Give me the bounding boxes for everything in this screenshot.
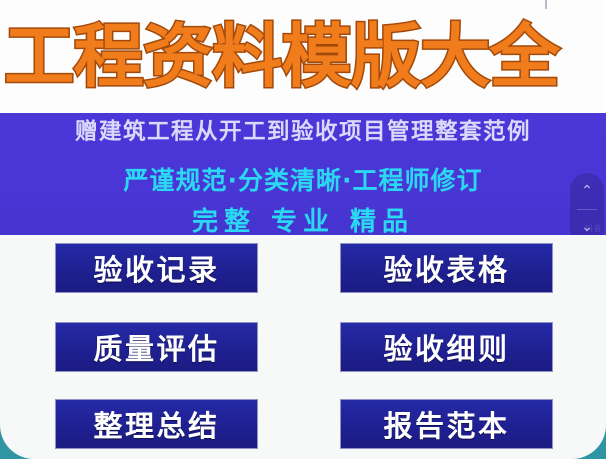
hero-banner: 工程资料模版大全 <box>0 0 606 116</box>
vertical-pager[interactable]: ⌃ ⌄ <box>570 173 604 235</box>
category-button-label: 报告范本 <box>383 403 509 445</box>
category-card: 验收记录 验收表格 质量评估 验收细则 整理总结 报告范本 <box>0 235 606 459</box>
promo-poster: 工程资料模版大全 赠建筑工程从开工到验收项目管理整套范例 严谨规范·分类清晰·工… <box>0 0 606 459</box>
category-button-acceptance-records[interactable]: 验收记录 <box>55 243 258 293</box>
band-subtitle-primary: 赠建筑工程从开工到验收项目管理整套范例 <box>0 117 606 147</box>
band-subtitle-features: 严谨规范·分类清晰·工程师修订 <box>0 165 606 197</box>
category-button-label: 验收细则 <box>383 326 509 368</box>
category-button-label: 质量评估 <box>93 326 219 368</box>
chevron-down-icon[interactable]: ⌄ <box>570 209 604 235</box>
subtitle-band: 赠建筑工程从开工到验收项目管理整套范例 严谨规范·分类清晰·工程师修订 完整 专… <box>0 113 606 235</box>
band-subtitle-tagline: 完整 专业 精品 <box>0 205 606 235</box>
category-button-grid: 验收记录 验收表格 质量评估 验收细则 整理总结 报告范本 <box>0 235 606 459</box>
page-title: 工程资料模版大全 <box>4 8 606 106</box>
category-button-report-template[interactable]: 报告范本 <box>340 399 553 449</box>
category-button-label: 验收记录 <box>93 247 219 289</box>
category-button-label: 整理总结 <box>93 403 219 445</box>
category-button-summary[interactable]: 整理总结 <box>55 399 258 449</box>
category-button-acceptance-rules[interactable]: 验收细则 <box>340 322 553 372</box>
chevron-up-icon[interactable]: ⌃ <box>570 173 604 209</box>
category-button-label: 验收表格 <box>383 247 509 289</box>
category-button-acceptance-forms[interactable]: 验收表格 <box>340 243 553 293</box>
category-button-quality-assessment[interactable]: 质量评估 <box>55 322 258 372</box>
